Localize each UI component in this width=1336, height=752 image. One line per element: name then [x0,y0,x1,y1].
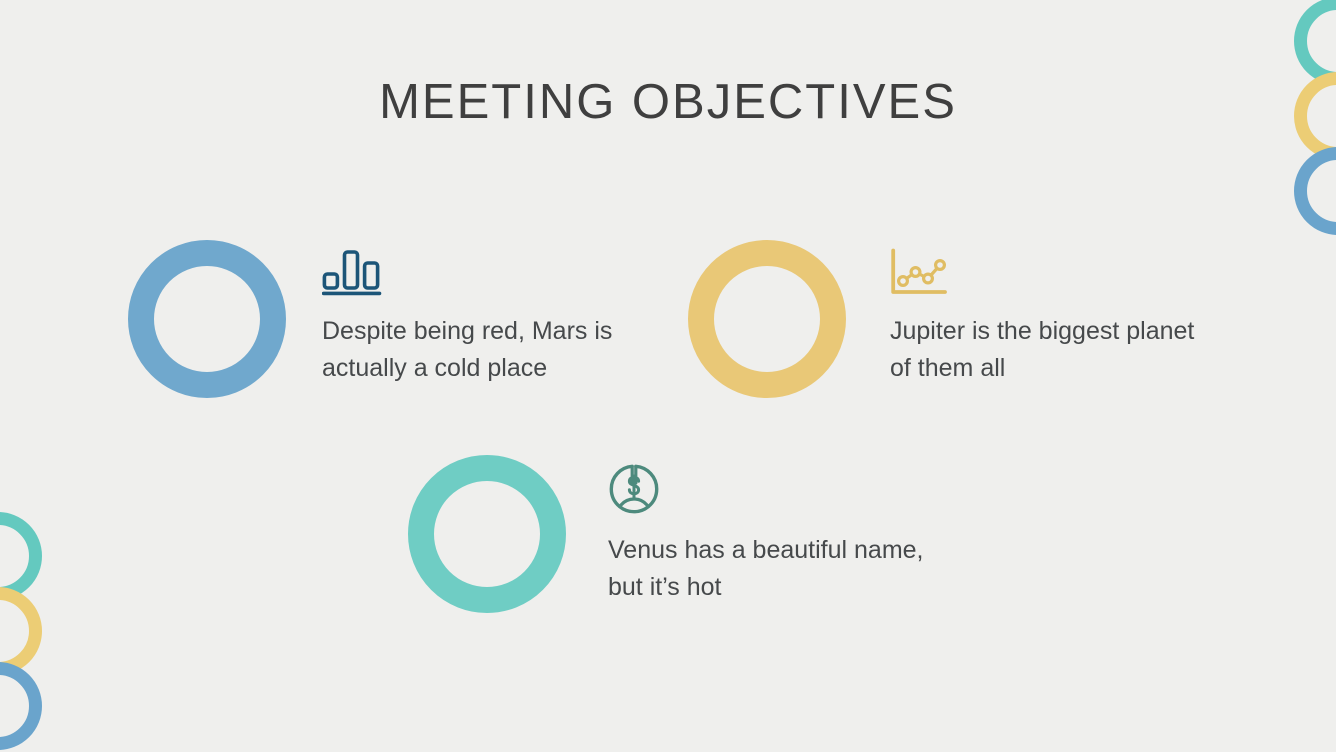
bar-chart-icon [322,248,642,301]
objective-content-mars: Despite being red, Mars is actually a co… [322,248,642,387]
money-pie-icon [608,463,938,520]
objective-text-mars: Despite being red, Mars is actually a co… [322,313,642,387]
objective-item-jupiter: Jupiter is the biggest planet of them al… [660,230,1280,420]
objective-content-venus: Venus has a beautiful name, but it’s hot [608,463,938,606]
page-title: MEETING OBJECTIVES [0,74,1336,130]
deco-ring-blue [1294,147,1336,235]
objective-ring-blue [128,240,286,398]
objective-ring-teal [408,455,566,613]
slide-canvas: MEETING OBJECTIVES Despite being red, Ma… [0,0,1336,752]
line-chart-icon [890,248,1210,301]
objective-item-mars: Despite being red, Mars is actually a co… [0,230,660,420]
deco-ring-blue [0,662,42,750]
decoration-bottom-left [0,502,60,752]
objective-ring-yellow [688,240,846,398]
objective-content-jupiter: Jupiter is the biggest planet of them al… [890,248,1210,387]
objective-text-jupiter: Jupiter is the biggest planet of them al… [890,313,1210,387]
objective-text-venus: Venus has a beautiful name, but it’s hot [608,532,938,606]
objective-item-venus: Venus has a beautiful name, but it’s hot [340,445,1000,635]
